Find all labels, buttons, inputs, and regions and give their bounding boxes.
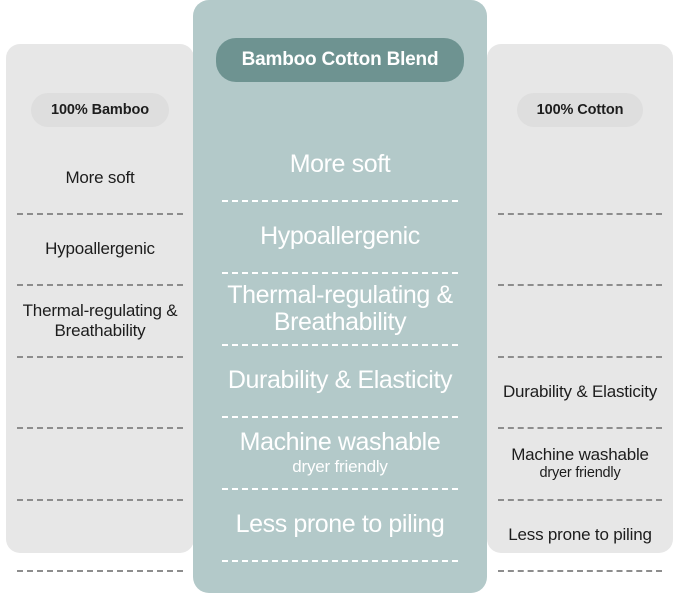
row-divider <box>498 570 662 572</box>
column-header-cotton: 100% Cotton <box>487 93 673 127</box>
feature-row: Thermal-regulating & Breathability <box>193 274 487 344</box>
feature-label: Thermal-regulating & Breathability <box>203 282 477 337</box>
feature-row-empty <box>6 358 194 428</box>
feature-row: Hypoallergenic <box>193 202 487 272</box>
feature-label: Less prone to piling <box>236 511 445 539</box>
feature-label: Machine washable <box>511 445 649 465</box>
row-divider <box>222 560 457 562</box>
feature-label: Hypoallergenic <box>45 239 155 259</box>
comparison-figure: 100% Bamboo More soft Hypoallergenic The… <box>0 0 679 602</box>
feature-row-empty <box>6 501 194 571</box>
header-pill-blend: Bamboo Cotton Blend <box>216 38 465 82</box>
feature-list-cotton: Durability & Elasticity Machine washable… <box>487 143 673 572</box>
feature-row: More soft <box>193 130 487 200</box>
feature-list-blend: More soft Hypoallergenic Thermal-regulat… <box>193 130 487 562</box>
feature-label: Less prone to piling <box>508 525 651 545</box>
feature-row: Thermal-regulating & Breathability <box>6 286 194 356</box>
feature-label: Hypoallergenic <box>260 223 420 251</box>
feature-row: More soft <box>6 143 194 213</box>
feature-row: Less prone to piling <box>193 490 487 560</box>
column-blend: Bamboo Cotton Blend More soft Hypoallerg… <box>193 0 487 602</box>
column-header-bamboo: 100% Bamboo <box>6 93 194 127</box>
feature-row: Less prone to piling <box>487 501 673 571</box>
header-pill-bamboo: 100% Bamboo <box>31 93 169 127</box>
row-divider <box>17 570 182 572</box>
feature-row: Durability & Elasticity <box>487 358 673 428</box>
feature-row-empty <box>487 143 673 213</box>
feature-label: More soft <box>290 151 391 179</box>
feature-row-empty <box>487 215 673 285</box>
feature-list-bamboo: More soft Hypoallergenic Thermal-regulat… <box>6 143 194 572</box>
column-header-blend: Bamboo Cotton Blend <box>193 38 487 82</box>
feature-row-empty <box>487 286 673 356</box>
feature-row: Hypoallergenic <box>6 215 194 285</box>
feature-sublabel: dryer friendly <box>292 457 387 477</box>
feature-row: Machine washable dryer friendly <box>193 418 487 488</box>
feature-row-empty <box>6 429 194 499</box>
feature-row: Machine washable dryer friendly <box>487 429 673 499</box>
column-cotton: 100% Cotton Durability & Elasticity Mach… <box>487 0 673 602</box>
feature-row: Durability & Elasticity <box>193 346 487 416</box>
feature-label: Thermal-regulating & Breathability <box>14 301 186 340</box>
header-pill-cotton: 100% Cotton <box>517 93 644 127</box>
feature-label: More soft <box>65 168 134 188</box>
column-bamboo: 100% Bamboo More soft Hypoallergenic The… <box>6 0 194 602</box>
feature-sublabel: dryer friendly <box>539 465 620 482</box>
feature-label: Durability & Elasticity <box>503 382 657 402</box>
feature-label: Durability & Elasticity <box>228 367 452 395</box>
feature-label: Machine washable <box>240 429 441 457</box>
